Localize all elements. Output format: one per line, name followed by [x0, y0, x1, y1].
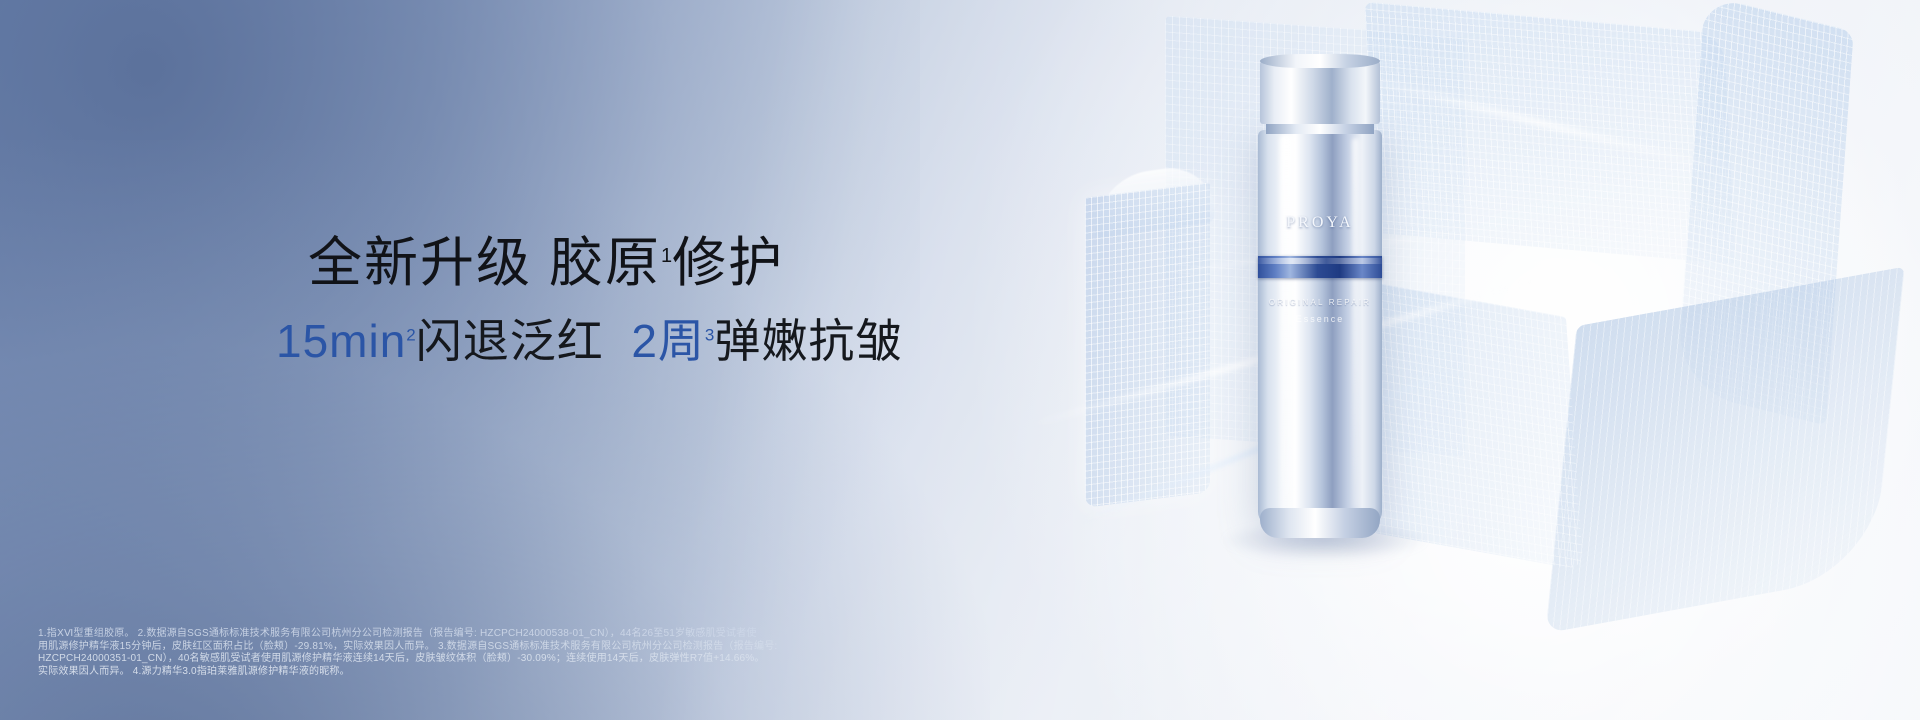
subheadline-superscript-3: 3 — [705, 325, 714, 344]
headline-superscript-1: 1 — [661, 245, 672, 267]
headline-part1: 全新升级 胶原 — [308, 233, 661, 293]
subheadline-seg3: 2周 — [631, 315, 705, 367]
product-bottle: PROYA ORIGINAL REPAIR Essence — [1236, 58, 1404, 544]
brand-logo-text: PROYA — [1258, 214, 1382, 232]
banner-stage: PROYA ORIGINAL REPAIR Essence 全新升级 胶原1修护… — [0, 0, 1920, 720]
headline-part2: 修护 — [672, 233, 784, 293]
headline: 全新升级 胶原1修护 — [308, 232, 1068, 296]
subheadline-seg1: 15min — [276, 315, 406, 367]
footnotes-block: 1.指ⅩⅥ型重组胶原。 2.数据源自SGS通标标准技术服务有限公司杭州分公司检测… — [38, 628, 1018, 678]
product-type-text: Essence — [1258, 314, 1382, 324]
footnote-line: 用肌源修护精华液15分钟后，皮肤红区面积占比（脸颊）-29.81%，实际效果因人… — [38, 641, 1018, 654]
product-line-text: ORIGINAL REPAIR — [1258, 298, 1382, 307]
footnote-line: 1.指ⅩⅥ型重组胶原。 2.数据源自SGS通标标准技术服务有限公司杭州分公司检测… — [38, 628, 1018, 641]
bottle-body — [1258, 130, 1382, 526]
footnote-line: HZCPCH24000351-01_CN），40名敏感肌受试者使用肌源修护精华液… — [38, 653, 1018, 666]
copy-block: 全新升级 胶原1修护 15min2闪退泛红 2周3弹嫩抗皱 — [308, 232, 1068, 369]
bottle-cap-top — [1260, 54, 1380, 68]
subheadline: 15min2闪退泛红 2周3弹嫩抗皱 — [276, 314, 1068, 369]
bottle-highlight-left — [1280, 134, 1293, 514]
subheadline-seg4: 弹嫩抗皱 — [714, 315, 902, 367]
footnote-line: 实际效果因人而异。 4.源力精华3.0指珀莱雅肌源修护精华液的昵称。 — [38, 666, 1018, 679]
bottle-band-gloss — [1258, 258, 1382, 264]
subheadline-seg2: 闪退泛红 — [416, 315, 604, 367]
subheadline-superscript-2: 2 — [406, 325, 415, 344]
bottle-base — [1260, 508, 1380, 538]
